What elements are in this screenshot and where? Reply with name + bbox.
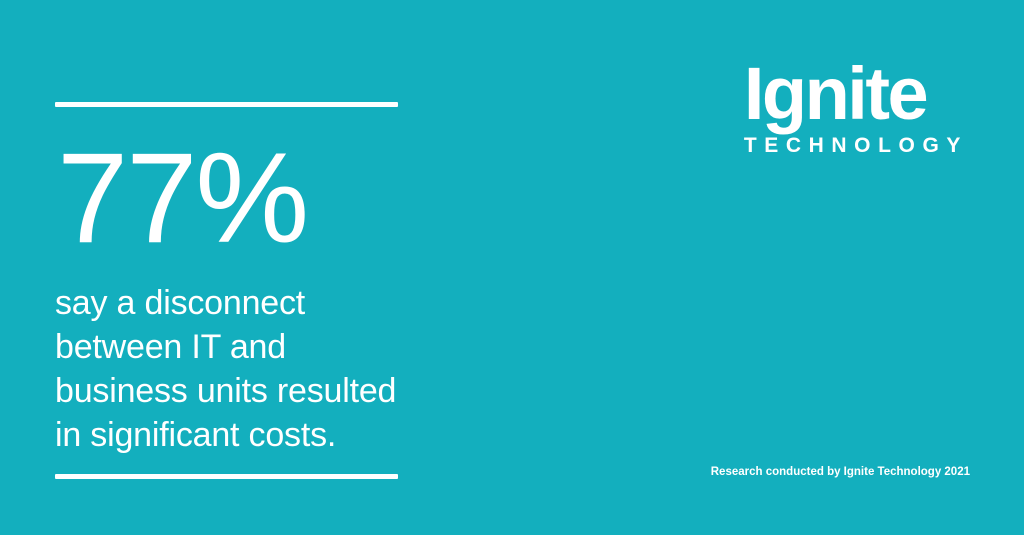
statement-line: business units resulted (55, 369, 435, 413)
statistic-value: 77% (57, 135, 307, 263)
logo: Ignite TECHNOLOGY (744, 58, 968, 158)
logo-subtitle: TECHNOLOGY (744, 134, 968, 158)
divider-top (55, 102, 398, 107)
divider-bottom (55, 474, 398, 479)
footer-credit: Research conducted by Ignite Technology … (711, 465, 970, 479)
statement-text: say a disconnect between IT and business… (55, 281, 435, 457)
statement-line: say a disconnect (55, 281, 435, 325)
logo-wordmark: Ignite (744, 58, 968, 130)
statement-line: between IT and (55, 325, 435, 369)
statement-line: in significant costs. (55, 413, 435, 457)
stat-card: 77% say a disconnect between IT and busi… (0, 0, 1024, 535)
